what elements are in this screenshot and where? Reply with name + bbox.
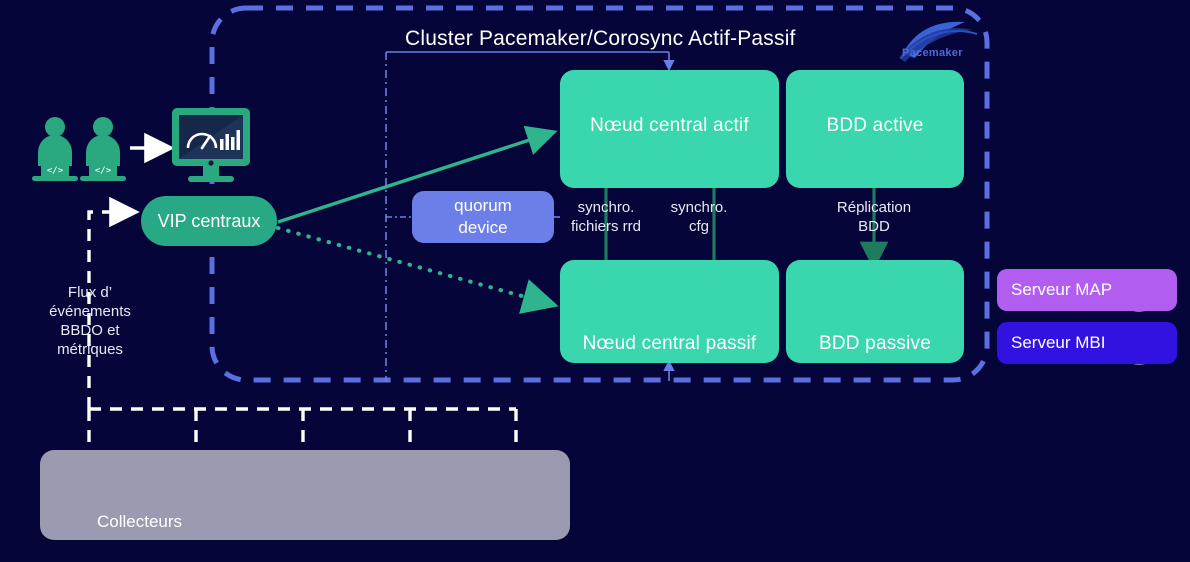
label-line-3: BBDO et xyxy=(24,321,156,340)
pacemaker-logo: Pacemaker xyxy=(893,18,993,64)
label-line-1: Flux d’ xyxy=(24,283,156,302)
legend-serveur-mbi[interactable]: Serveur MBI xyxy=(997,322,1177,364)
label-synchro-rrd: synchro. fichiers rrd xyxy=(558,198,654,236)
label-flux-evenements: Flux d’ événements BBDO et métriques xyxy=(24,283,156,359)
quorum-line-2: device xyxy=(458,217,507,239)
vip-label: VIP centraux xyxy=(158,211,261,232)
vip-centraux-node[interactable]: VIP centraux xyxy=(141,196,277,246)
diagram-canvas: </> </> xyxy=(0,0,1190,562)
legend-serveur-map[interactable]: Serveur MAP xyxy=(997,269,1177,311)
node-label: Nœud central actif xyxy=(590,115,749,137)
node-bdd-passive[interactable]: BDD passive xyxy=(786,260,964,363)
node-label: Nœud central passif xyxy=(583,333,757,355)
node-noeud-central-passif[interactable]: Nœud central passif xyxy=(560,260,779,363)
legend-label: Serveur MAP xyxy=(1011,280,1112,300)
svg-text:</>: </> xyxy=(95,166,112,176)
label-line-2: fichiers rrd xyxy=(558,217,654,236)
legend-label: Serveur MBI xyxy=(1011,333,1105,353)
label-line-1: Réplication xyxy=(814,198,934,217)
label-synchro-cfg: synchro. cfg xyxy=(655,198,743,236)
label-line-2: cfg xyxy=(655,217,743,236)
svg-text:</>: </> xyxy=(47,166,64,176)
node-bdd-active[interactable]: BDD active xyxy=(786,70,964,188)
pacemaker-logo-text: Pacemaker xyxy=(902,47,963,59)
label-line-1: synchro. xyxy=(558,198,654,217)
node-noeud-central-actif[interactable]: Nœud central actif xyxy=(560,70,779,188)
label-line-1: synchro. xyxy=(655,198,743,217)
collectors-caption: Collecteurs xyxy=(97,512,182,532)
quorum-device-box[interactable]: quorum device xyxy=(412,191,554,243)
developer-person-icon: </> xyxy=(80,117,126,181)
label-line-4: métriques xyxy=(24,340,156,359)
monitor-dashboard-icon xyxy=(172,108,250,182)
label-line-2: BDD xyxy=(814,217,934,236)
label-line-2: événements xyxy=(24,302,156,321)
collectors-panel[interactable]: Collecteurs xyxy=(40,450,570,540)
quorum-line-1: quorum xyxy=(454,195,512,217)
developer-person-icon: </> xyxy=(32,117,78,181)
label-replication-bdd: Réplication BDD xyxy=(814,198,934,236)
cluster-title: Cluster Pacemaker/Corosync Actif-Passif xyxy=(405,27,796,51)
node-label: BDD active xyxy=(826,115,923,137)
node-label: BDD passive xyxy=(819,333,931,355)
